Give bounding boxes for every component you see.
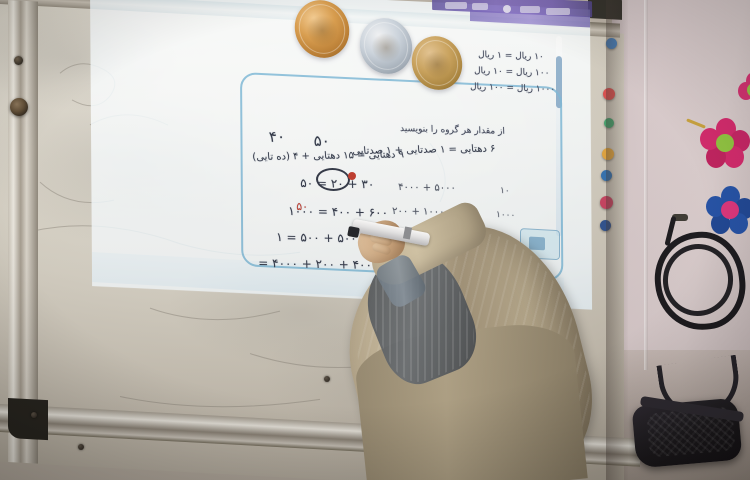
marker-tip-icon (347, 226, 360, 238)
flower-pink-partial (736, 72, 750, 106)
frame-screw (324, 376, 330, 382)
frame-screw (14, 56, 23, 65)
wall-corner-shadow (606, 0, 628, 480)
frame-bolt (10, 98, 28, 116)
screenshot-root: ۱۰ ریال = ۱ ریال ۱۰۰ ریال = ۱۰ ریال ۱۰۰۰… (0, 0, 750, 480)
toolbar-menu-item[interactable] (546, 8, 570, 15)
toolbar-logo-icon (503, 5, 511, 13)
board-frame-left (8, 0, 38, 464)
wall-seam (644, 0, 648, 370)
toolbar-menu-item[interactable] (445, 2, 467, 9)
red-ink-dot (348, 172, 356, 180)
board-corner-cap-bottom-left (8, 398, 48, 440)
flower-blue (706, 186, 750, 234)
flower-center (721, 201, 739, 219)
circled-answer-marker (315, 168, 350, 191)
toolbar-menu-item[interactable] (472, 3, 488, 10)
thumbnail-icon (529, 236, 545, 250)
frame-screw (31, 412, 37, 418)
frame-screw (78, 444, 84, 450)
toolbar-menu-item[interactable] (520, 6, 540, 13)
flower-center (716, 134, 734, 152)
flower-pink (700, 118, 750, 168)
